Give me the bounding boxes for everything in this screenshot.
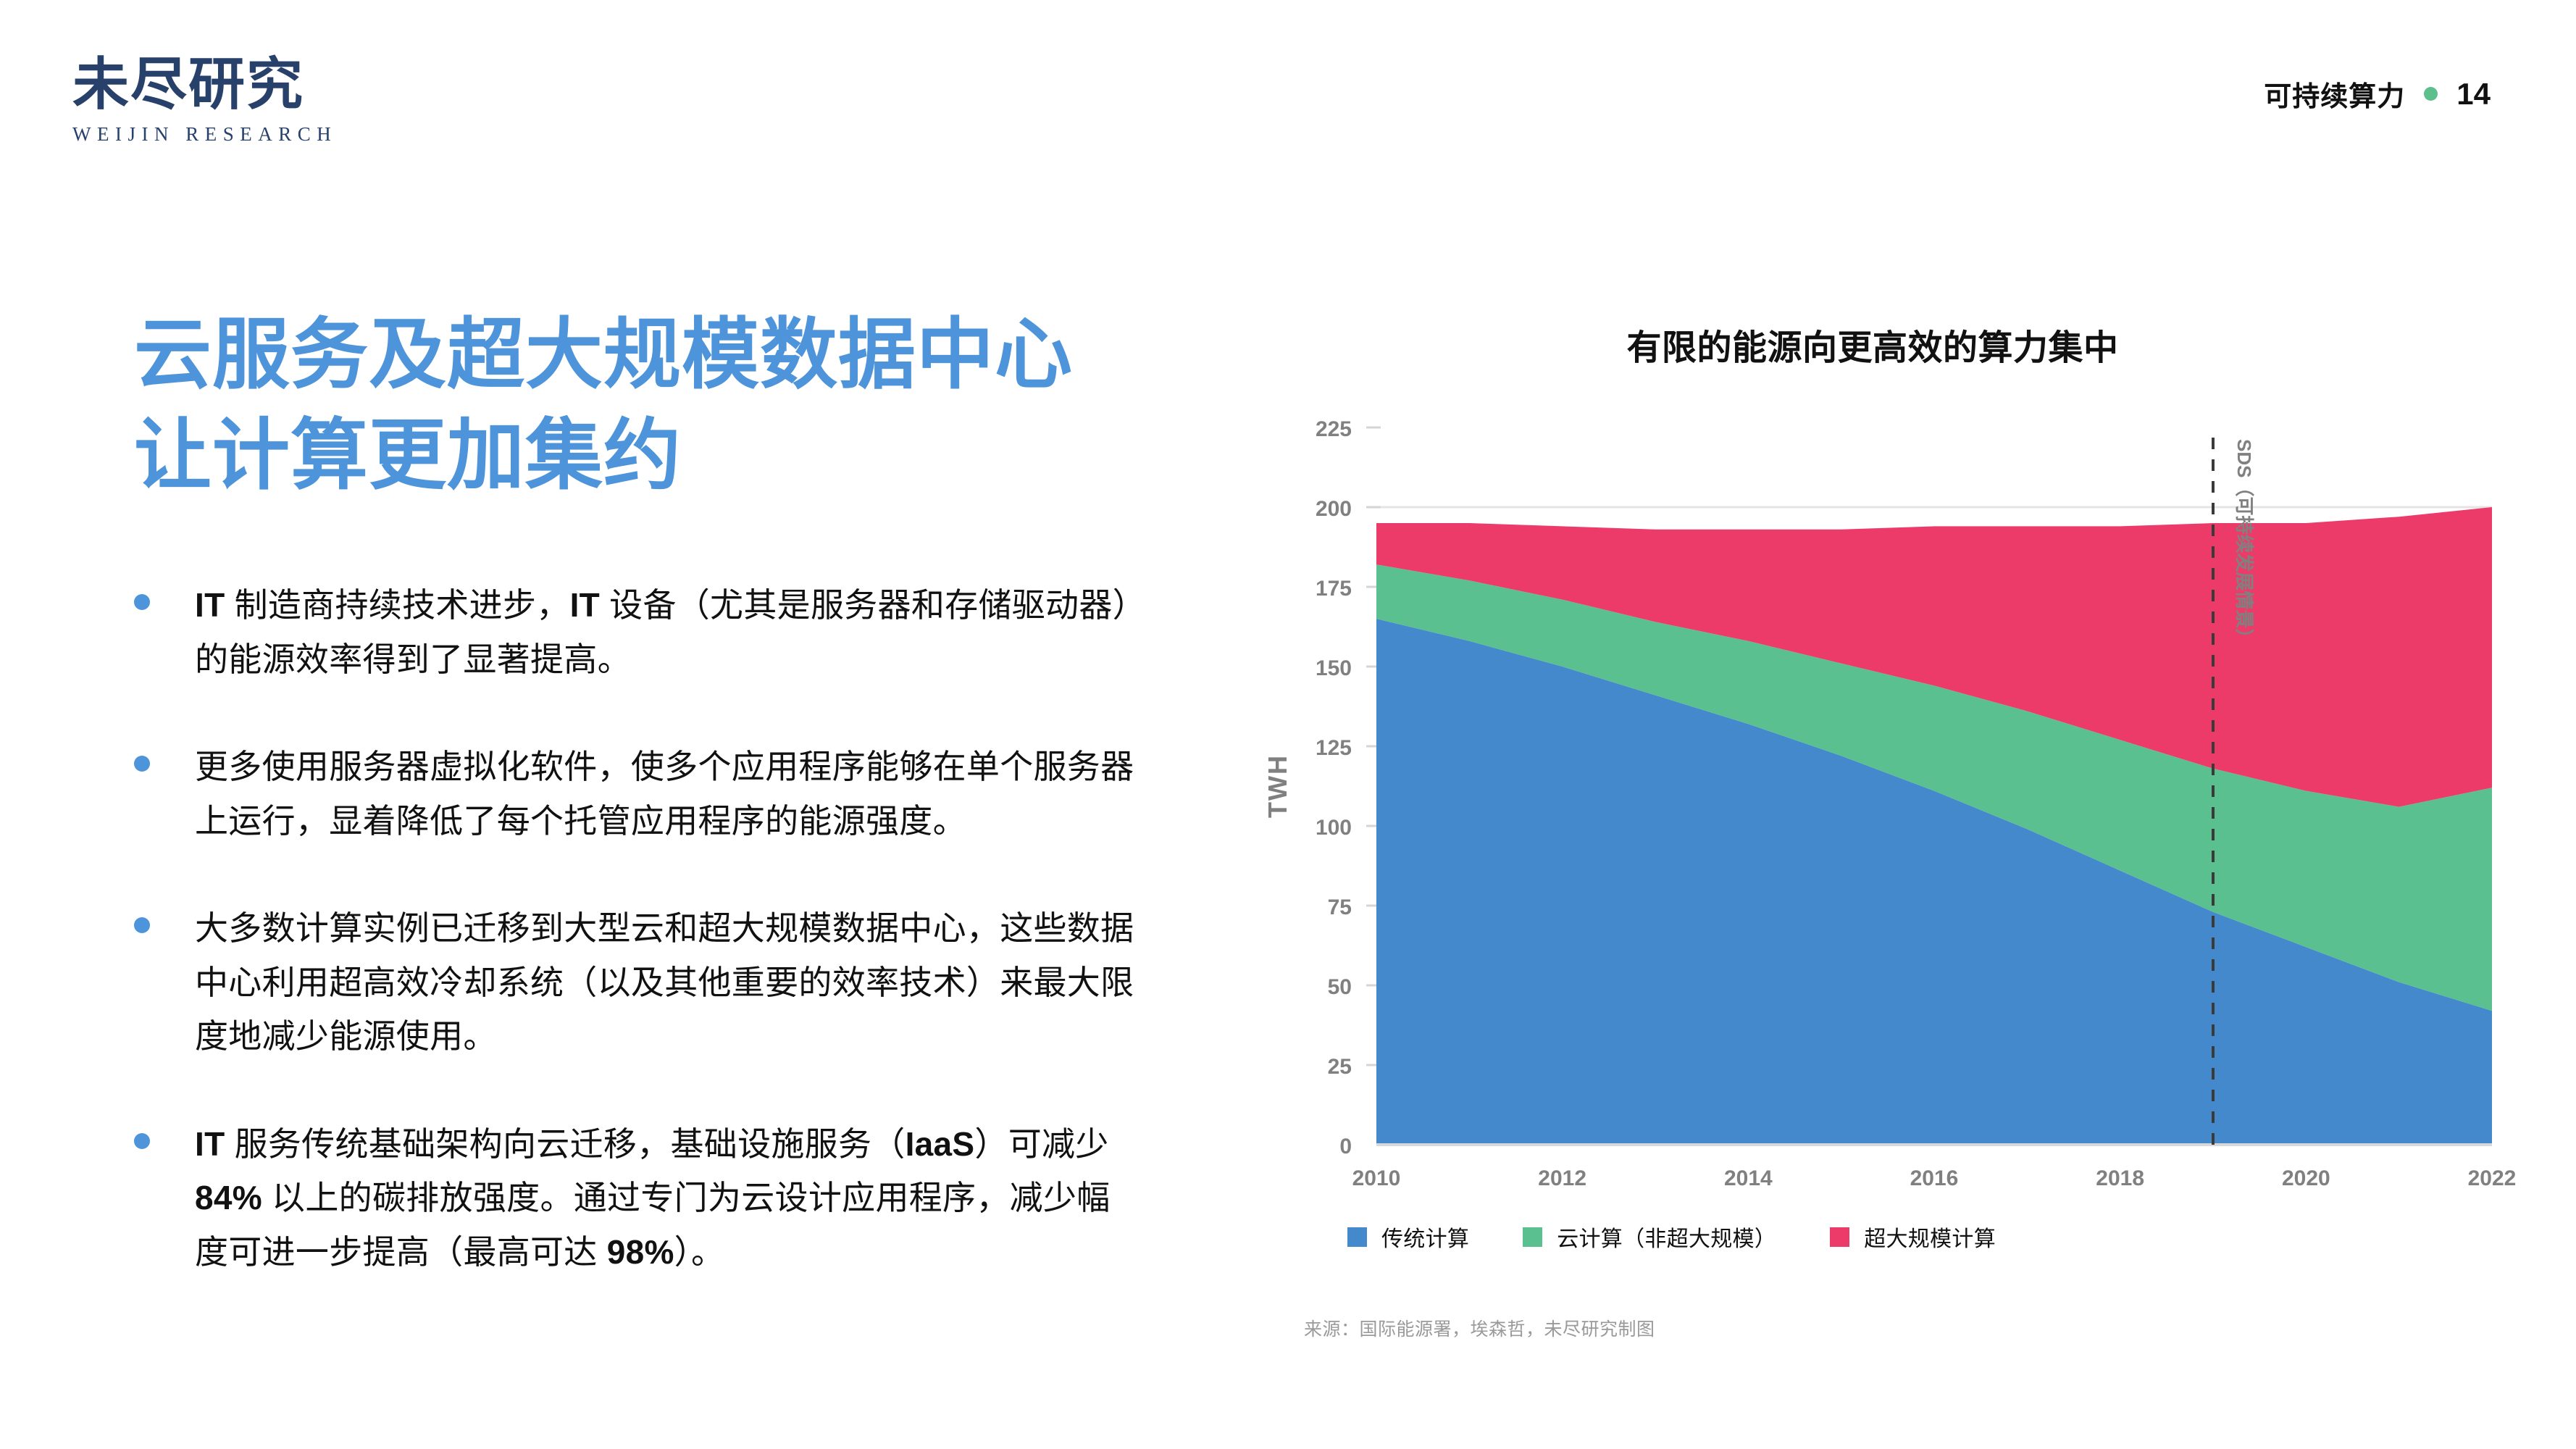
y-axis-tick-label: 0	[1339, 1135, 1352, 1158]
y-axis-tick-label: 100	[1316, 816, 1352, 840]
legend-swatch	[1830, 1227, 1849, 1247]
separator-dot-icon	[2424, 87, 2438, 101]
page-title-line-1: 云服务及超大规模数据中心	[134, 304, 1163, 405]
brand-logo-cn: 未尽研究	[72, 57, 362, 113]
chart-legend: 传统计算 云计算（非超大规模） 超大规模计算	[1347, 1221, 1996, 1253]
bullet-text: IT 服务传统基础架构向云迁移，基础设施服务（IaaS）可减少 84% 以上的碳…	[195, 1117, 1137, 1279]
chart-panel: 有限的能源向更高效的算力集中 0255075100125150175200225…	[1231, 319, 2528, 1369]
list-item: 更多使用服务器虚拟化软件，使多个应用程序能够在单个服务器上运行，显着降低了每个托…	[134, 740, 1163, 848]
bullet-dot-icon	[134, 1133, 150, 1149]
y-axis-tick-label: 200	[1316, 497, 1352, 521]
brand-logo-en: WEIJIN RESEARCH	[72, 123, 362, 146]
bullet-text: IT 制造商持续技术进步，IT 设备（尤其是服务器和存储驱动器）的能源效率得到了…	[195, 578, 1137, 686]
bullet-dot-icon	[134, 756, 150, 772]
x-axis-tick-label: 2022	[2468, 1166, 2517, 1190]
page-title-line-2: 让计算更加集约	[134, 405, 1163, 506]
left-content-column: 云服务及超大规模数据中心 让计算更加集约 IT 制造商持续技术进步，IT 设备（…	[134, 304, 1163, 1332]
bullet-dot-icon	[134, 594, 150, 610]
x-axis-tick-label: 2018	[2096, 1166, 2144, 1190]
y-axis-tick-label: 50	[1328, 975, 1352, 999]
y-axis-tick-label: 25	[1328, 1055, 1352, 1079]
chart-title: 有限的能源向更高效的算力集中	[1333, 319, 2412, 369]
legend-swatch	[1347, 1227, 1367, 1247]
bullet-list: IT 制造商持续技术进步，IT 设备（尤其是服务器和存储驱动器）的能源效率得到了…	[134, 578, 1163, 1279]
legend-item: 传统计算	[1347, 1221, 1469, 1253]
header-meta: 可持续算力 14	[2264, 74, 2491, 114]
x-axis-tick-label: 2020	[2282, 1166, 2330, 1190]
page-number: 14	[2456, 77, 2491, 112]
y-axis-tick-label: 125	[1316, 736, 1352, 760]
x-axis-tick-label: 2012	[1538, 1166, 1586, 1190]
y-axis-tick-label: 175	[1316, 577, 1352, 601]
y-axis-tick-label: 225	[1316, 417, 1352, 441]
legend-item: 超大规模计算	[1830, 1221, 1996, 1253]
y-axis-title: TWH	[1263, 754, 1292, 818]
page-title: 云服务及超大规模数据中心 让计算更加集约	[134, 304, 1163, 506]
x-axis-tick-label: 2014	[1724, 1166, 1773, 1190]
bullet-dot-icon	[134, 917, 150, 933]
chart-source-note: 来源：国际能源署，埃森哲，未尽研究制图	[1304, 1315, 1655, 1341]
legend-item: 云计算（非超大规模）	[1523, 1221, 1776, 1253]
brand-logo: 未尽研究 WEIJIN RESEARCH	[72, 57, 362, 146]
list-item: IT 制造商持续技术进步，IT 设备（尤其是服务器和存储驱动器）的能源效率得到了…	[134, 578, 1163, 686]
stacked-area-chart: 0255075100125150175200225TWH201020122014…	[1231, 413, 2528, 1210]
bullet-text: 更多使用服务器虚拟化软件，使多个应用程序能够在单个服务器上运行，显着降低了每个托…	[195, 740, 1137, 848]
chapter-label: 可持续算力	[2264, 74, 2405, 114]
legend-label: 超大规模计算	[1864, 1221, 1996, 1253]
legend-label: 传统计算	[1381, 1221, 1469, 1253]
x-axis-tick-label: 2016	[1910, 1166, 1959, 1190]
y-axis-tick-label: 75	[1328, 895, 1352, 919]
page-header: 未尽研究 WEIJIN RESEARCH 可持续算力 14	[0, 0, 2576, 217]
sds-annotation-label: SDS（可持续发展情景）	[2233, 439, 2255, 647]
legend-label: 云计算（非超大规模）	[1557, 1221, 1776, 1253]
list-item: IT 服务传统基础架构向云迁移，基础设施服务（IaaS）可减少 84% 以上的碳…	[134, 1117, 1163, 1279]
legend-swatch	[1523, 1227, 1542, 1247]
bullet-text: 大多数计算实例已迁移到大型云和超大规模数据中心，这些数据中心利用超高效冷却系统（…	[195, 901, 1137, 1064]
y-axis-tick-label: 150	[1316, 656, 1352, 680]
chart-plot-area: 0255075100125150175200225TWH201020122014…	[1231, 413, 2528, 1210]
list-item: 大多数计算实例已迁移到大型云和超大规模数据中心，这些数据中心利用超高效冷却系统（…	[134, 901, 1163, 1064]
x-axis-tick-label: 2010	[1352, 1166, 1401, 1190]
